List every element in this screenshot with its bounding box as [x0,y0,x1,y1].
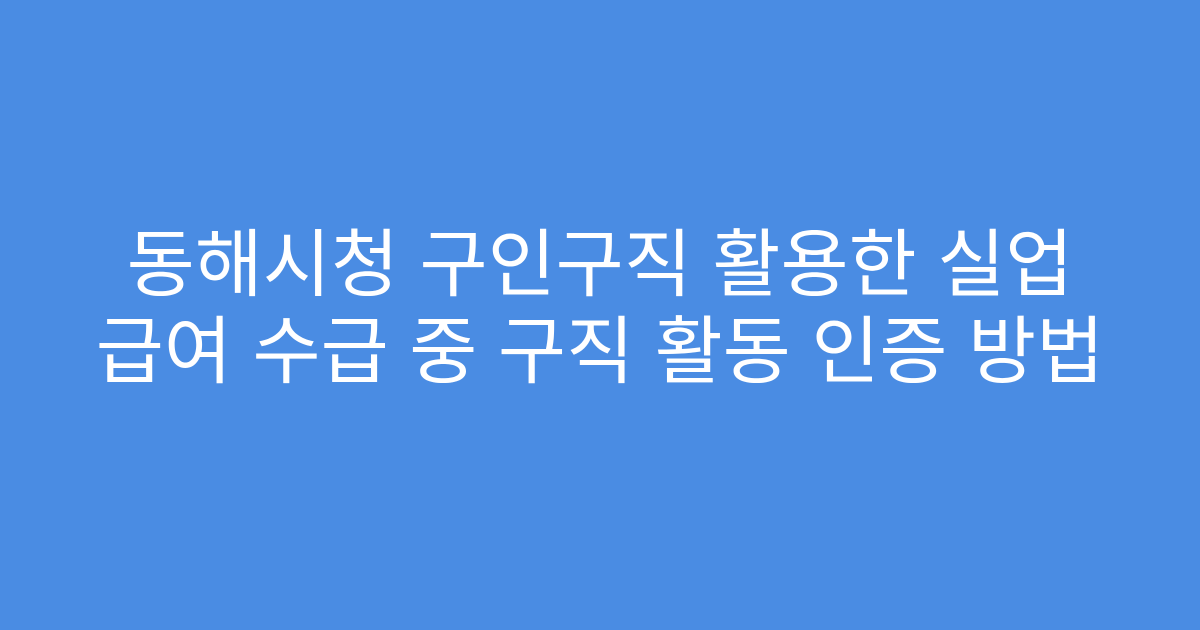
thumbnail-card: 동해시청 구인구직 활용한 실업 급여 수급 중 구직 활동 인증 방법 [0,0,1200,630]
page-title: 동해시청 구인구직 활용한 실업 급여 수급 중 구직 활동 인증 방법 [60,221,1140,395]
page-title-line-1: 동해시청 구인구직 활용한 실업 [127,221,1074,308]
page-title-line-2: 급여 수급 중 구직 활동 인증 방법 [96,308,1104,395]
